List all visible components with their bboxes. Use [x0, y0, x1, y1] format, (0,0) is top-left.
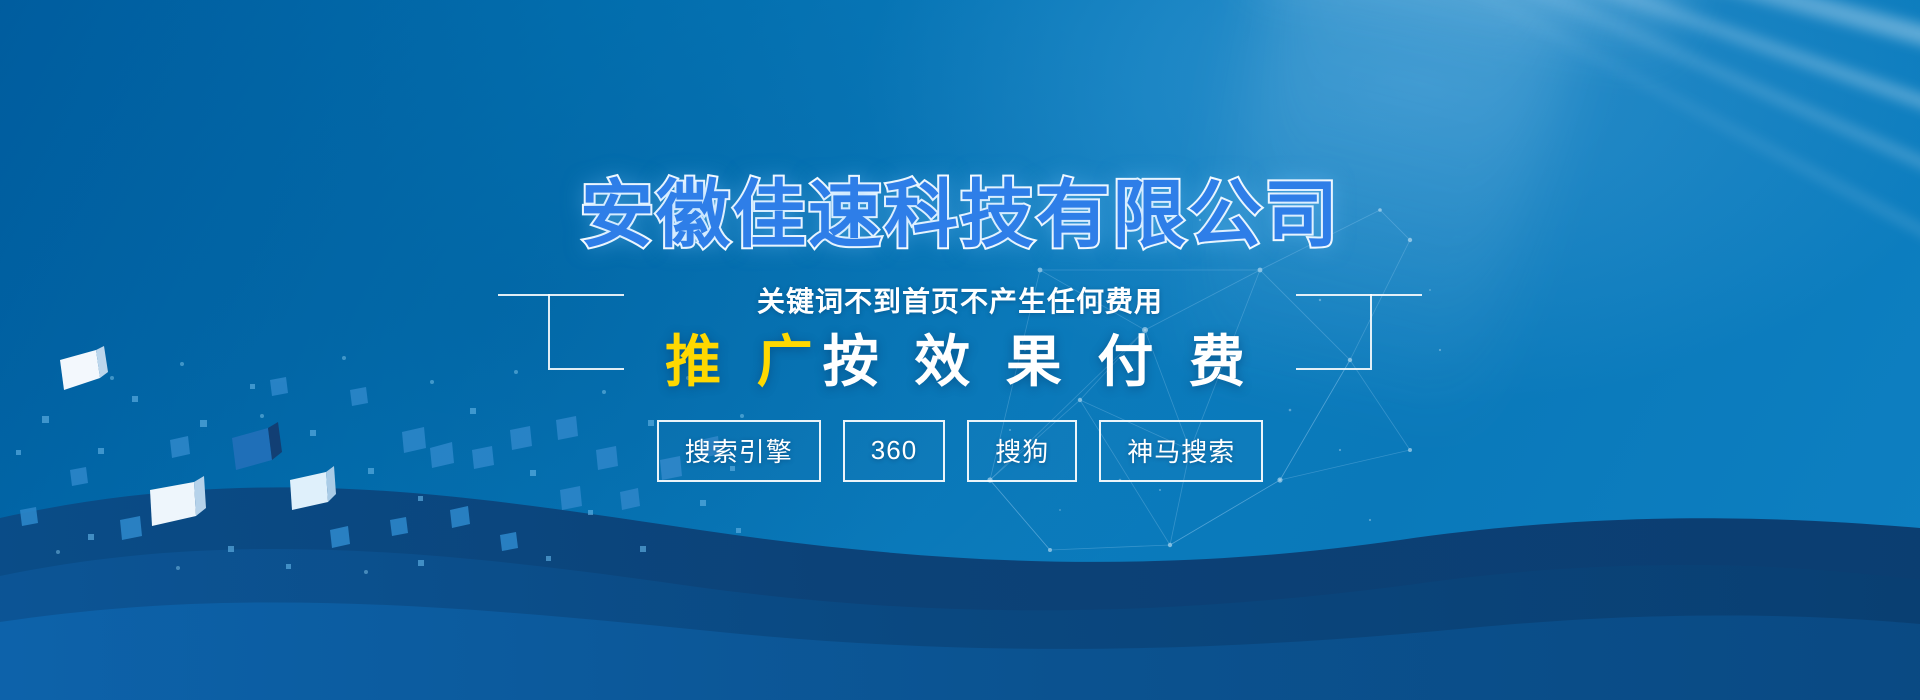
bracket-left-decoration: [548, 294, 624, 370]
company-title: 安徽佳速科技有限公司: [580, 178, 1340, 252]
tagline-block: 关键词不到首页不产生任何费用 推 广按 效 果 付 费: [610, 288, 1310, 394]
banner-content: 安徽佳速科技有限公司 关键词不到首页不产生任何费用 推 广按 效 果 付 费 搜…: [0, 0, 1920, 700]
search-engine-button-row: 搜索引擎 360 搜狗 神马搜索: [657, 420, 1263, 482]
engine-button-360[interactable]: 360: [843, 420, 945, 482]
headline: 推 广按 效 果 付 费: [665, 331, 1255, 394]
hero-banner: 安徽佳速科技有限公司 关键词不到首页不产生任何费用 推 广按 效 果 付 费 搜…: [0, 0, 1920, 700]
headline-accent-text: 推 广: [665, 330, 823, 393]
engine-button-sogou[interactable]: 搜狗: [967, 420, 1077, 482]
tagline-text: 关键词不到首页不产生任何费用: [757, 288, 1163, 316]
engine-button-shenma[interactable]: 神马搜索: [1099, 420, 1263, 482]
headline-plain-text: 按 效 果 付 费: [823, 330, 1255, 393]
bracket-right-decoration: [1296, 294, 1372, 370]
engine-button-search-engine[interactable]: 搜索引擎: [657, 420, 821, 482]
